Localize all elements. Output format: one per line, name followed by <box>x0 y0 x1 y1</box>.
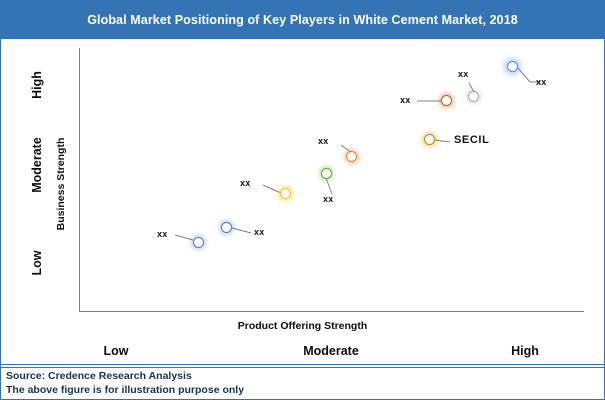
y-axis-title: Business Strength <box>55 136 67 232</box>
footer-source: Source: Credence Research Analysis <box>6 370 604 384</box>
data-point-p3[interactable] <box>280 188 291 199</box>
chart-footer: Source: Credence Research Analysis The a… <box>1 367 604 400</box>
x-tick-moderate: Moderate <box>288 344 374 358</box>
data-point-p9[interactable] <box>507 61 518 72</box>
data-point-p4[interactable] <box>321 168 332 179</box>
data-point-p5[interactable] <box>346 151 357 162</box>
x-tick-high: High <box>490 344 560 358</box>
footer-divider <box>1 364 604 365</box>
data-point-p1[interactable] <box>193 237 204 248</box>
plot-axes-box <box>79 48 584 312</box>
page-title: Global Market Positioning of Key Players… <box>87 13 518 27</box>
data-point-p7[interactable] <box>441 95 452 106</box>
y-tick-high: High <box>30 55 44 115</box>
data-point-label-p1: xx <box>157 229 168 239</box>
data-point-label-p4: xx <box>323 194 334 204</box>
chart-header-bar: Global Market Positioning of Key Players… <box>1 1 604 39</box>
footer-disclaimer: The above figure is for illustration pur… <box>6 384 604 398</box>
data-point-secil[interactable] <box>424 134 435 145</box>
data-point-label-p2: xx <box>254 227 265 237</box>
data-point-label-p9: xx <box>536 77 547 87</box>
x-tick-low: Low <box>81 344 151 358</box>
y-tick-moderate: Moderate <box>30 125 44 205</box>
y-tick-low: Low <box>30 233 44 293</box>
data-point-label-p8: xx <box>458 69 469 79</box>
data-point-label-p3: xx <box>240 178 251 188</box>
data-point-p2[interactable] <box>221 222 232 233</box>
chart-figure-frame: Global Market Positioning of Key Players… <box>0 0 605 400</box>
data-point-p8[interactable] <box>468 91 479 102</box>
data-point-label-secil: SECIL <box>454 134 489 146</box>
x-axis-title: Product Offering Strength <box>1 320 604 332</box>
data-point-label-p5: xx <box>318 136 329 146</box>
data-point-label-p7: xx <box>400 95 411 105</box>
chart-plot-region: High Moderate Low Business Strength Prod… <box>1 39 604 362</box>
